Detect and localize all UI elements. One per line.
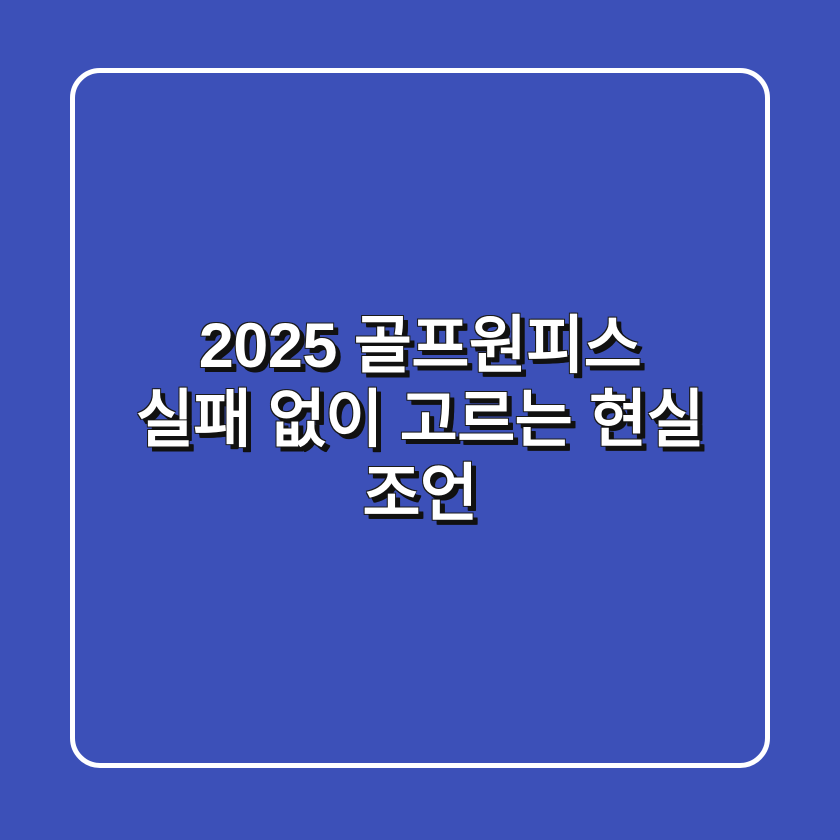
headline-line-2: 실패 없이 고르는 현실 xyxy=(60,383,780,457)
headline-line-1: 2025 골프원피스 xyxy=(60,309,780,383)
headline-block: 2025 골프원피스 실패 없이 고르는 현실 조언 xyxy=(0,0,840,840)
headline-line-3: 조언 xyxy=(60,457,780,531)
thumbnail-card: 2025 골프원피스 실패 없이 고르는 현실 조언 xyxy=(0,0,840,840)
